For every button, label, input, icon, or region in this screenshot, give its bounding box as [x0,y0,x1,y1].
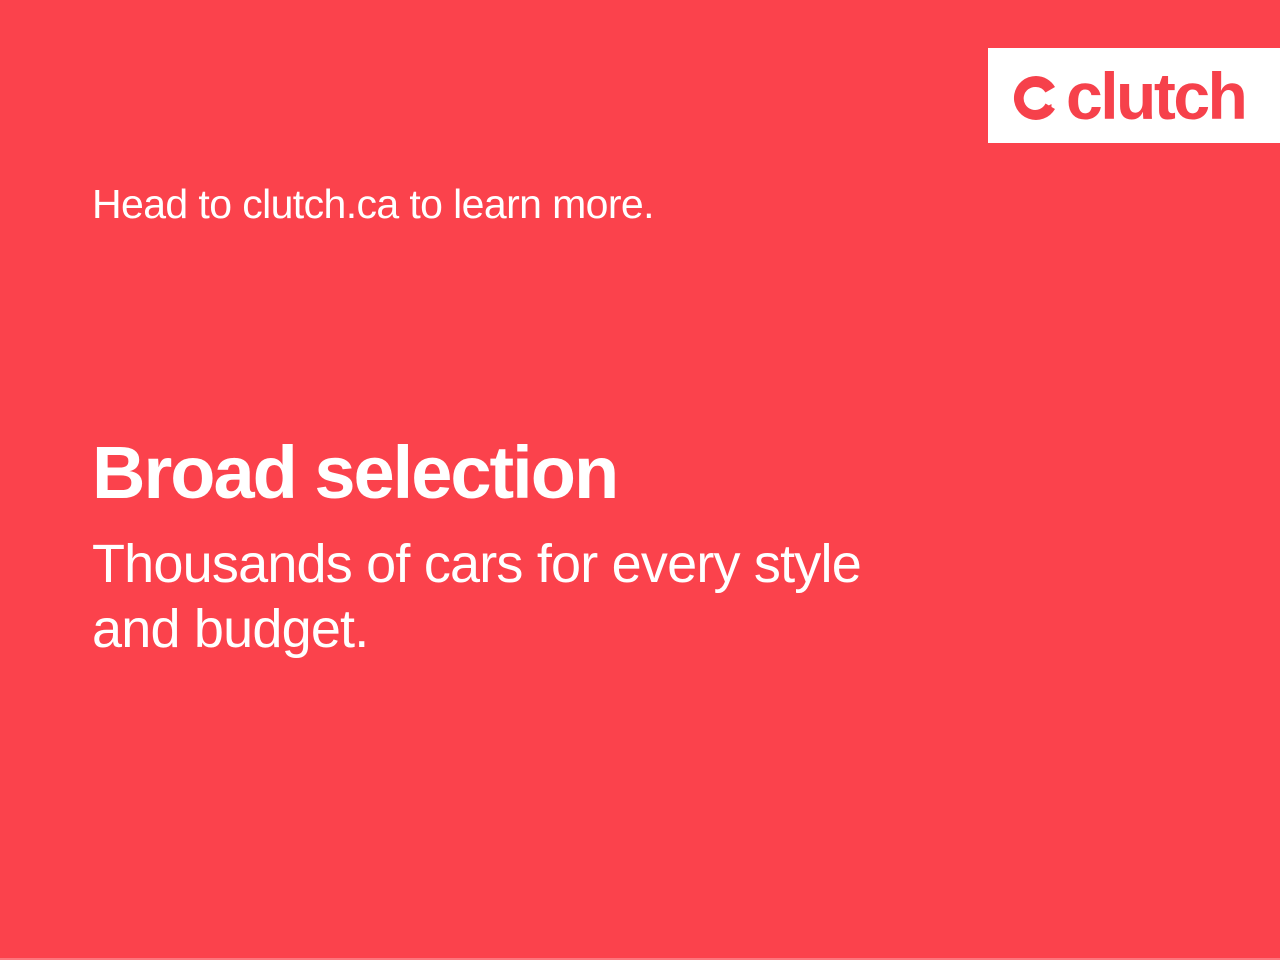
subhead-line-2: and budget. [92,597,1032,662]
page-title: Broad selection [92,436,1092,510]
subhead-line-1: Thousands of cars for every style [92,532,1032,597]
promo-slide: clutch Head to clutch.ca to learn more. … [0,0,1280,960]
brand-logo-box: clutch [988,48,1280,143]
eyebrow-text: Head to clutch.ca to learn more. [92,181,654,228]
brand-logo-lockup: clutch [1010,63,1245,129]
message-block: Broad selection Thousands of cars for ev… [92,436,1092,662]
brand-wordmark: clutch [1066,63,1245,129]
clutch-c-mark-icon [1010,72,1062,124]
subhead-text: Thousands of cars for every style and bu… [92,532,1032,662]
